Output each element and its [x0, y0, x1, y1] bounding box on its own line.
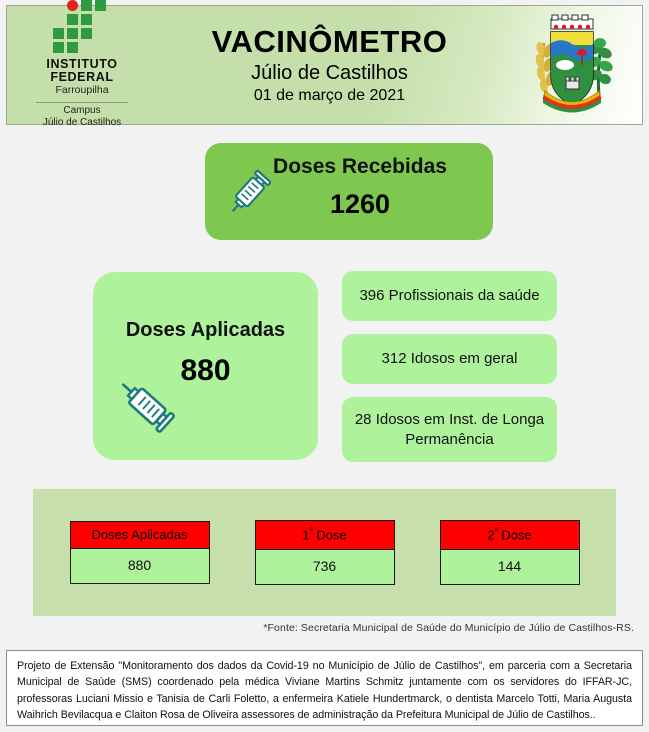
doses-recebidas-card: Doses Recebidas 1260	[205, 143, 493, 240]
summary-box-header-text: Doses Aplicadas	[91, 527, 187, 542]
shield-icon	[551, 32, 593, 105]
source-note: *Fonte: Secretaria Municipal de Saúde do…	[263, 622, 634, 634]
page-header: INSTITUTO FEDERAL Farroupilha Campus Júl…	[6, 5, 643, 125]
summary-box-primeira-dose: 1ª Dose 736	[255, 520, 395, 585]
summary-panel: Doses Aplicadas 880 1ª Dose 736 2ª Dose …	[33, 489, 616, 616]
instituto-federal-mark-icon	[51, 0, 113, 55]
doses-recebidas-value: 1260	[205, 189, 493, 220]
institution-logo: INSTITUTO FEDERAL Farroupilha Campus Júl…	[7, 6, 157, 124]
breakdown-label: 28 Idosos em Inst. de Longa Permanência	[350, 410, 549, 448]
breakdown-item-idosos-ilpi: 28 Idosos em Inst. de Longa Permanência	[342, 397, 557, 462]
logo-divider	[36, 102, 128, 103]
summary-box-header: Doses Aplicadas	[71, 522, 209, 549]
doses-recebidas-label: Doses Recebidas	[205, 155, 493, 179]
institute-name-line2: FEDERAL	[46, 71, 117, 84]
report-date: 01 de março de 2021	[254, 86, 405, 106]
header-titles: VACINÔMETRO Júlio de Castilhos 01 de mar…	[157, 6, 502, 124]
footer-panel: Projeto de Extensão "Monitoramento dos d…	[6, 650, 643, 726]
footer-text: Projeto de Extensão "Monitoramento dos d…	[17, 658, 632, 723]
mural-crown-icon	[551, 15, 593, 29]
breakdown-item-profissionais: 396 Profissionais da saúde	[342, 271, 557, 321]
breakdown-item-idosos-geral: 312 Idosos em geral	[342, 334, 557, 384]
coat-of-arms-icon	[529, 13, 615, 117]
vacinometro-page: INSTITUTO FEDERAL Farroupilha Campus Júl…	[0, 0, 649, 732]
campus-name: Júlio de Castilhos	[43, 117, 121, 130]
campus-label: Campus	[43, 105, 121, 118]
coat-of-arms	[502, 6, 642, 124]
summary-box-doses-aplicadas: Doses Aplicadas 880	[70, 521, 210, 585]
doses-aplicadas-label: Doses Aplicadas	[93, 319, 318, 342]
syringe-icon	[111, 370, 183, 442]
institute-subtitle: Farroupilha	[55, 84, 108, 99]
summary-box-header: 2ª Dose	[441, 521, 579, 550]
summary-box-header: 1ª Dose	[256, 521, 394, 550]
summary-box-header-rest: Dose	[498, 527, 532, 542]
summary-box-header-rest: Dose	[313, 527, 347, 542]
summary-box-value: 880	[71, 549, 209, 583]
page-title: VACINÔMETRO	[212, 26, 448, 59]
summary-box-segunda-dose: 2ª Dose 144	[440, 520, 580, 585]
city-name: Júlio de Castilhos	[251, 61, 408, 86]
breakdown-label: 396 Profissionais da saúde	[359, 286, 539, 305]
summary-box-value: 144	[441, 550, 579, 584]
breakdown-label: 312 Idosos em geral	[382, 349, 518, 368]
summary-box-value: 736	[256, 550, 394, 584]
doses-aplicadas-card: Doses Aplicadas 880	[93, 272, 318, 460]
